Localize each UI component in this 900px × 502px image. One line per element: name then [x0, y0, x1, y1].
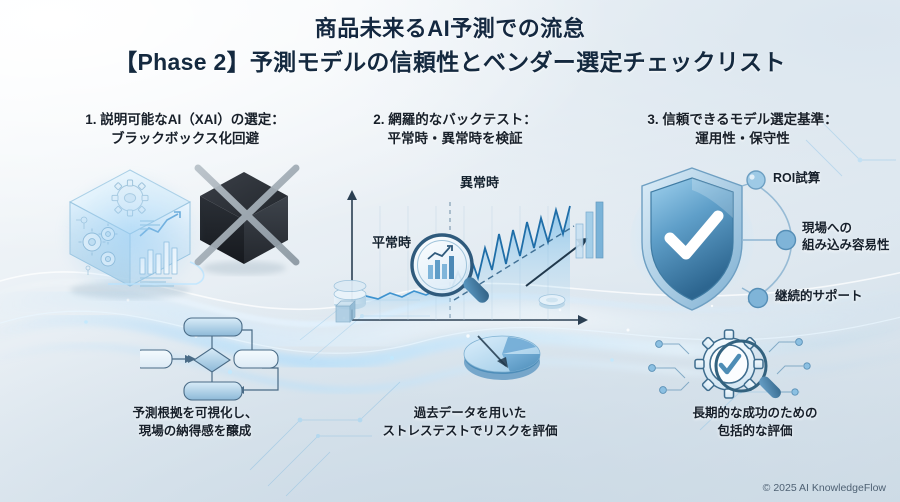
column-heading-vendor-line1: 3. 信頼できるモデル選定基準：	[647, 112, 837, 127]
title-line-2: 【Phase 2】予測モデルの信頼性とベンダー選定チェックリスト	[0, 46, 900, 78]
caption-xai-line2: 現場の納得感を醸成	[139, 424, 252, 438]
criteria-label-integration-line2: 組み込み容易性	[802, 238, 890, 252]
column-heading-vendor-line2: 運用性・保守性	[600, 129, 885, 148]
backtest-illustration: 平常時 異常時	[330, 160, 615, 395]
flowchart-illustration	[140, 312, 320, 412]
vendor-criteria-illustration: ROI試算 現場への 組み込み容易性 継続的サポート	[630, 160, 890, 320]
copyright-notice: © 2025 AI KnowledgeFlow	[763, 482, 886, 494]
column-heading-backtest-line1: 2. 網羅的なバックテスト：	[373, 112, 537, 127]
column-heading-backtest: 2. 網羅的なバックテスト： 平常時・異常時を検証	[320, 110, 590, 148]
caption-xai-line1: 予測根拠を可視化し、	[132, 406, 257, 420]
pie-chart-icon	[464, 336, 540, 380]
criteria-label-roi: ROI試算	[773, 170, 820, 187]
caption-backtest-line2: ストレステストでリスクを評価	[382, 424, 557, 438]
infographic-canvas: 商品未来るAI予測での流怠 【Phase 2】予測モデルの信頼性とベンダー選定チ…	[0, 0, 900, 502]
criteria-label-support: 継続的サポート	[775, 288, 863, 305]
caption-vendor: 長期的な成功のための 包括的な評価	[620, 404, 890, 440]
gear-check-magnifier-illustration	[645, 322, 815, 412]
chart-label-normal: 平常時	[372, 232, 411, 251]
column-heading-vendor: 3. 信頼できるモデル選定基準： 運用性・保守性	[600, 110, 885, 148]
xai-illustration	[48, 158, 318, 308]
chart-label-anomaly: 異常時	[460, 172, 499, 191]
caption-backtest-line1: 過去データを用いた	[414, 406, 527, 420]
criteria-label-integration: 現場への 組み込み容易性	[802, 220, 890, 254]
coin-icon	[539, 295, 565, 309]
column-heading-xai-line1: 1. 説明可能なAI（XAI）の選定：	[85, 112, 285, 127]
title-line-1: 商品未来るAI予測での流怠	[0, 14, 900, 44]
caption-vendor-line1: 長期的な成功のための	[692, 406, 817, 420]
caption-xai: 予測根拠を可視化し、 現場の納得感を醸成	[60, 404, 330, 440]
cube-glow-decoration	[56, 168, 206, 303]
page-title: 商品未来るAI予測での流怠 【Phase 2】予測モデルの信頼性とベンダー選定チ…	[0, 14, 900, 78]
caption-backtest: 過去データを用いた ストレステストでリスクを評価	[330, 404, 610, 440]
column-heading-xai-line2: ブラックボックス化回避	[40, 129, 330, 148]
column-heading-backtest-line2: 平常時・異常時を検証	[320, 129, 590, 148]
caption-vendor-line2: 包括的な評価	[717, 424, 792, 438]
column-heading-xai: 1. 説明可能なAI（XAI）の選定： ブラックボックス化回避	[40, 110, 330, 148]
criteria-label-integration-line1: 現場への	[802, 221, 852, 235]
